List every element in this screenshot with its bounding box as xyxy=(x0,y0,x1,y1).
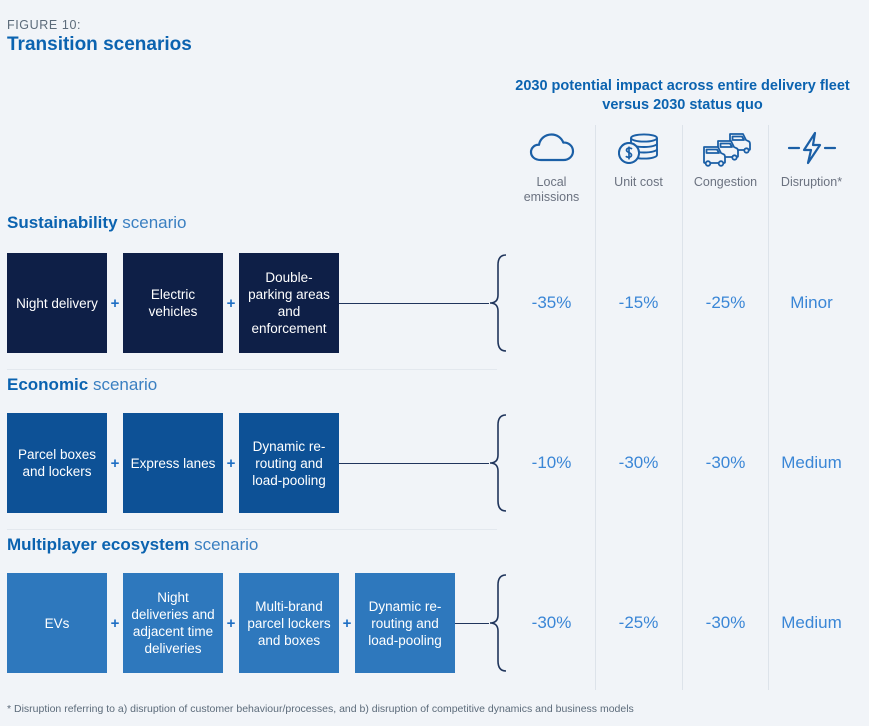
scenario-values-economic: -10% -30% -30% Medium xyxy=(508,413,860,513)
scenario-name: Economic xyxy=(7,375,88,394)
scenario-box[interactable]: Parcel boxes and lockers xyxy=(7,413,107,513)
value-disruption: Medium xyxy=(768,573,855,673)
scenario-suffix: scenario xyxy=(118,213,187,232)
brace-icon xyxy=(488,253,510,353)
value-local-emissions: -35% xyxy=(508,253,595,353)
impact-heading: 2030 potential impact across entire deli… xyxy=(505,77,860,115)
brace-icon xyxy=(488,573,510,673)
scenario-box[interactable]: Dynamic re-routing and load-pooling xyxy=(355,573,455,673)
column-header-local-emissions: Local emissions xyxy=(508,125,595,220)
traffic-cars-icon xyxy=(682,127,769,169)
row-separator xyxy=(7,529,497,530)
value-disruption: Minor xyxy=(768,253,855,353)
footnote: * Disruption referring to a) disruption … xyxy=(7,703,634,715)
column-header-unit-cost: Unit cost xyxy=(595,125,682,220)
column-label: Disruption* xyxy=(768,175,855,190)
coins-dollar-icon xyxy=(595,127,682,169)
plus-sign: + xyxy=(107,253,123,353)
scenario-row-economic: Parcel boxes and lockers + Express lanes… xyxy=(7,413,497,513)
lightning-bolt-icon xyxy=(768,127,855,169)
plus-sign: + xyxy=(223,573,239,673)
value-local-emissions: -10% xyxy=(508,413,595,513)
figure-label: FIGURE 10: xyxy=(7,18,81,32)
scenario-box[interactable]: Double-parking areas and enforcement xyxy=(239,253,339,353)
scenario-box[interactable]: Multi-brand parcel lockers and boxes xyxy=(239,573,339,673)
scenario-row-sustainability: Night delivery + Electric vehicles + Dou… xyxy=(7,253,497,353)
value-unit-cost: -15% xyxy=(595,253,682,353)
column-label: Unit cost xyxy=(595,175,682,190)
scenario-title-multiplayer-ecosystem: Multiplayer ecosystem scenario xyxy=(7,535,258,555)
connector-line xyxy=(339,463,489,464)
scenario-title-sustainability: Sustainability scenario xyxy=(7,213,187,233)
scenario-suffix: scenario xyxy=(189,535,258,554)
column-header-congestion: Congestion xyxy=(682,125,769,220)
connector-line xyxy=(455,623,489,624)
column-header-disruption: Disruption* xyxy=(768,125,855,220)
value-local-emissions: -30% xyxy=(508,573,595,673)
plus-sign: + xyxy=(107,413,123,513)
scenario-values-sustainability: -35% -15% -25% Minor xyxy=(508,253,860,353)
scenario-name: Multiplayer ecosystem xyxy=(7,535,189,554)
scenario-row-multiplayer-ecosystem: EVs + Night deliveries and adjacent time… xyxy=(7,573,497,673)
plus-sign: + xyxy=(223,253,239,353)
page-title: Transition scenarios xyxy=(7,34,192,56)
column-label: Local emissions xyxy=(508,175,595,205)
column-label: Congestion xyxy=(682,175,769,190)
row-separator xyxy=(7,369,497,370)
value-unit-cost: -30% xyxy=(595,413,682,513)
scenario-box[interactable]: Dynamic re-routing and load-pooling xyxy=(239,413,339,513)
scenario-name: Sustainability xyxy=(7,213,118,232)
scenario-suffix: scenario xyxy=(88,375,157,394)
scenario-box[interactable]: Electric vehicles xyxy=(123,253,223,353)
scenario-box[interactable]: Night delivery xyxy=(7,253,107,353)
scenario-values-multiplayer-ecosystem: -30% -25% -30% Medium xyxy=(508,573,860,673)
plus-sign: + xyxy=(339,573,355,673)
scenario-box[interactable]: Night deliveries and adjacent time deliv… xyxy=(123,573,223,673)
plus-sign: + xyxy=(107,573,123,673)
brace-icon xyxy=(488,413,510,513)
scenario-box[interactable]: EVs xyxy=(7,573,107,673)
connector-line xyxy=(339,303,489,304)
plus-sign: + xyxy=(223,413,239,513)
value-congestion: -25% xyxy=(682,253,769,353)
value-congestion: -30% xyxy=(682,573,769,673)
scenario-title-economic: Economic scenario xyxy=(7,375,157,395)
cloud-icon xyxy=(508,127,595,169)
value-disruption: Medium xyxy=(768,413,855,513)
value-congestion: -30% xyxy=(682,413,769,513)
scenario-box[interactable]: Express lanes xyxy=(123,413,223,513)
value-unit-cost: -25% xyxy=(595,573,682,673)
